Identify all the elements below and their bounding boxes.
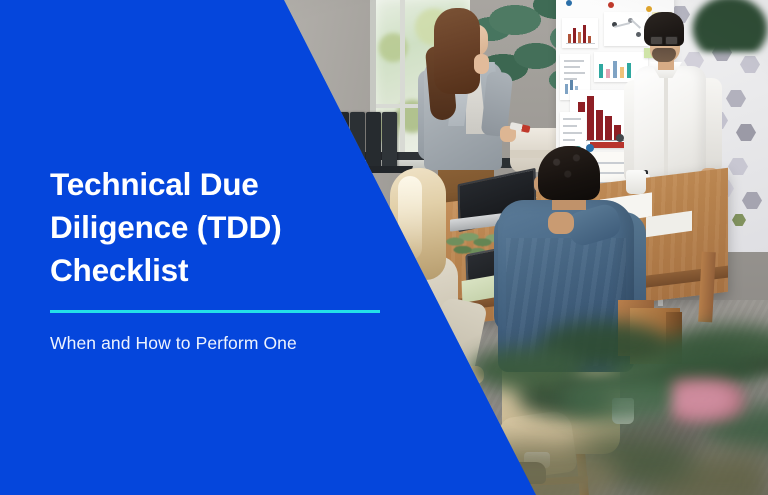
page-title: Technical Due Diligence (TDD) Checklist <box>50 163 350 292</box>
sticky-dot <box>616 134 624 142</box>
magnet-dot <box>608 2 614 8</box>
attendee-man-hair-texture <box>538 146 600 200</box>
magnet-dot <box>566 0 572 6</box>
window-frame-vertical <box>400 0 405 168</box>
attendee-man-hand <box>548 212 574 234</box>
text-block: Technical Due Diligence (TDD) Checklist … <box>50 163 350 354</box>
eyeglasses-icon <box>665 36 678 45</box>
eyeglasses-icon <box>650 36 663 45</box>
hexagon-tile <box>728 158 748 175</box>
hexagon-tile <box>742 192 762 209</box>
page-subtitle: When and How to Perform One <box>50 333 350 354</box>
binder <box>366 112 381 170</box>
presenter-hair <box>434 8 480 94</box>
foreground-pink-flower <box>672 378 744 422</box>
hexagon-tile <box>736 124 756 141</box>
whiteboard-chart-paper <box>562 18 598 48</box>
hexagon-plant <box>732 214 746 226</box>
hexagon-tile <box>726 90 746 107</box>
background-tree <box>690 0 768 52</box>
binder <box>382 112 397 170</box>
facilitator-beard <box>652 48 676 62</box>
presenter-hand-at-chin <box>474 54 489 74</box>
banner-graphic: Technical Due Diligence (TDD) Checklist … <box>0 0 768 495</box>
whiteboard-diagram-paper <box>604 12 648 46</box>
accent-divider <box>50 310 380 313</box>
hexagon-tile <box>740 56 760 73</box>
facilitator-shirt-placket <box>664 74 668 184</box>
coffee-cup <box>626 170 646 194</box>
